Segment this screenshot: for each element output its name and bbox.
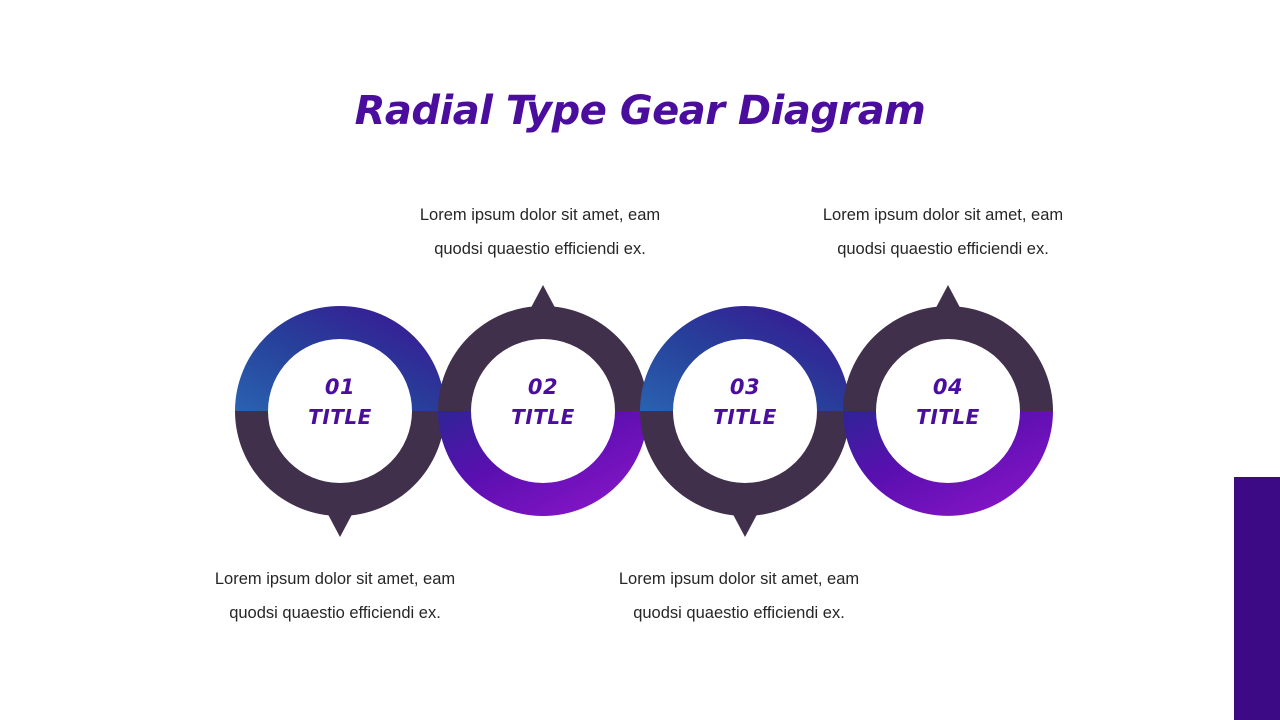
page-title: Radial Type Gear Diagram [0,88,1280,134]
slide-canvas: Radial Type Gear Diagram Lorem ipsum dol… [0,0,1280,720]
caption-bottom-right: Lorem ipsum dolor sit amet, eam quodsi q… [579,562,899,630]
gear-number-04: 04 [868,377,1028,398]
corner-accent-block [1234,477,1280,720]
gear-label-02: 02 TITLE [463,377,623,427]
caption-top-left: Lorem ipsum dolor sit amet, eam quodsi q… [380,198,700,266]
caption-line-2: quodsi quaestio efficiendi ex. [380,232,700,266]
caption-line-2: quodsi quaestio efficiendi ex. [783,232,1103,266]
gear-label-04: 04 TITLE [868,377,1028,427]
gear-title-01: TITLE [260,407,420,427]
gear-title-03: TITLE [665,407,825,427]
caption-line-2: quodsi quaestio efficiendi ex. [175,596,495,630]
caption-bottom-left: Lorem ipsum dolor sit amet, eam quodsi q… [175,562,495,630]
gear-number-01: 01 [260,377,420,398]
caption-line-1: Lorem ipsum dolor sit amet, eam [783,198,1103,232]
caption-line-2: quodsi quaestio efficiendi ex. [579,596,899,630]
gear-number-02: 02 [463,377,623,398]
caption-top-right: Lorem ipsum dolor sit amet, eam quodsi q… [783,198,1103,266]
gear-number-03: 03 [665,377,825,398]
gear-title-04: TITLE [868,407,1028,427]
gear-title-02: TITLE [463,407,623,427]
gear-label-01: 01 TITLE [260,377,420,427]
caption-line-1: Lorem ipsum dolor sit amet, eam [380,198,700,232]
gear-diagram: 01 TITLE 02 TITLE 03 TITLE 04 TITLE [190,262,1090,562]
gear-label-03: 03 TITLE [665,377,825,427]
caption-line-1: Lorem ipsum dolor sit amet, eam [175,562,495,596]
caption-line-1: Lorem ipsum dolor sit amet, eam [579,562,899,596]
